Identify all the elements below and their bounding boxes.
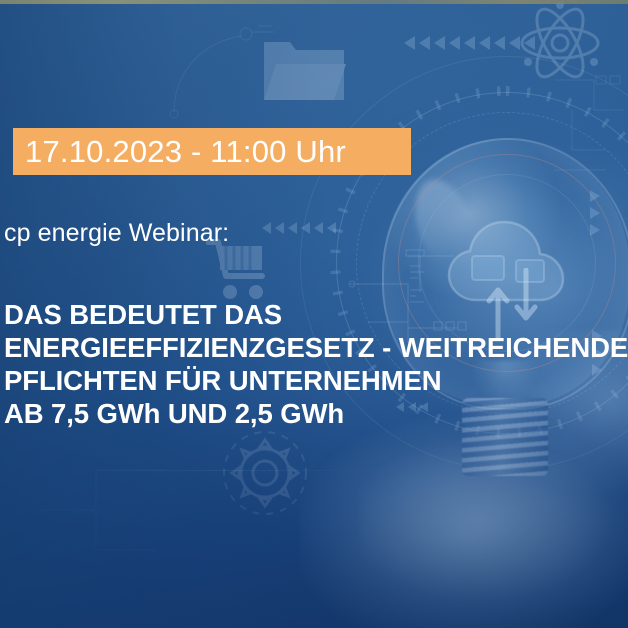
webinar-promo-banner: 17.10.2023 - 11:00 Uhr cp energie Webina… [0,0,628,628]
headline-line-3: PFLICHTEN FÜR UNTERNEHMEN [4,364,628,397]
date-time-badge: 17.10.2023 - 11:00 Uhr [13,128,411,175]
headline-line-4: AB 7,5 GWh UND 2,5 GWh [4,397,628,430]
headline-line-1: DAS BEDEUTET DAS [4,298,628,331]
banner-content: 17.10.2023 - 11:00 Uhr cp energie Webina… [0,0,628,628]
headline-line-2: ENERGIEEFFIZIENZGESETZ - WEITREICHENDE [4,331,628,364]
webinar-eyebrow-label: cp energie Webinar: [4,219,229,248]
page-title: DAS BEDEUTET DAS ENERGIEEFFIZIENZGESETZ … [4,298,628,430]
date-time-text: 17.10.2023 - 11:00 Uhr [25,136,346,167]
